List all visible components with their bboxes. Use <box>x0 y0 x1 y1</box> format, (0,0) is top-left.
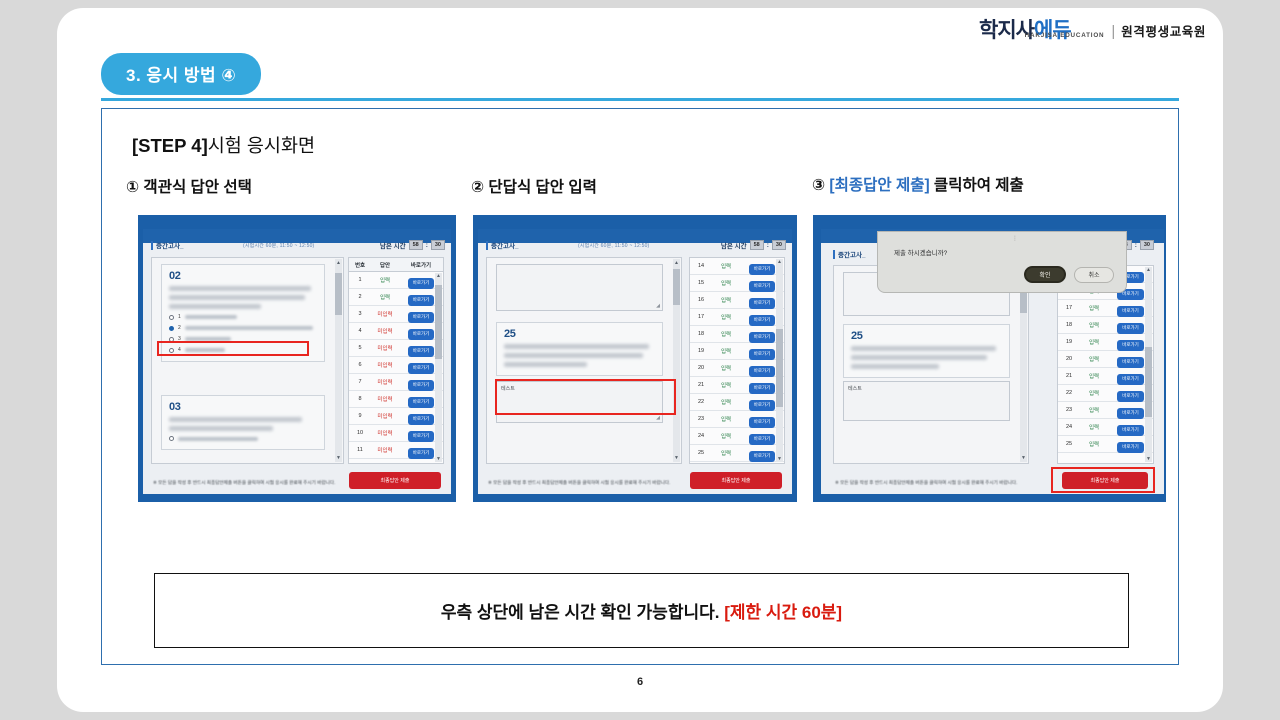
goto-question-button[interactable]: 바로가기 <box>408 329 435 340</box>
cell-question-number: 21 <box>1058 373 1080 379</box>
cell-answer-status: 입력 <box>712 415 740 423</box>
table-row: 14입력바로가기 <box>690 258 784 275</box>
table-row: 23입력바로가기 <box>690 411 784 428</box>
column-header-goto: 바로가기 <box>399 261 443 269</box>
table-row: 10미입력바로가기 <box>349 425 443 442</box>
scroll-down-icon-1[interactable]: ▼ <box>336 455 341 461</box>
cell-answer-status: 미입력 <box>371 344 399 352</box>
resize-grip-icon-1[interactable]: ◢ <box>656 303 660 309</box>
table-row: 9미입력바로가기 <box>349 408 443 425</box>
cell-answer-status: 입력 <box>712 364 740 372</box>
question-scrollbar-1[interactable]: ▲ ▼ <box>335 259 342 462</box>
table-row: 5미입력바로가기 <box>349 340 443 357</box>
goto-question-button[interactable]: 바로가기 <box>408 346 435 357</box>
cell-answer-status: 입력 <box>1080 440 1108 448</box>
question-card-25-confirm: 25 <box>843 324 1010 378</box>
cell-question-number: 21 <box>690 382 712 388</box>
cell-question-number: 2 <box>349 294 371 300</box>
logo-mark: 학지사 에듀 HAKJISA EDUCATION <box>979 20 1104 41</box>
table-row: 16입력바로가기 <box>690 292 784 309</box>
table-row: 24입력바로가기 <box>690 428 784 445</box>
goto-question-button[interactable]: 바로가기 <box>1117 374 1144 385</box>
choice-option-1[interactable]: 1 <box>169 314 317 320</box>
cell-question-number: 7 <box>349 379 371 385</box>
timer-separator-1: : <box>426 242 428 249</box>
question-pane-1: ▲ ▼ 02 1 <box>151 257 344 464</box>
exam-title-2: 중간고사_ <box>486 240 519 250</box>
screenshot-submit-confirm: 중간고사_ 남은 시간 58 : 30 ▲ ▼ 25 <box>813 215 1166 502</box>
question-number-03: 03 <box>169 401 317 413</box>
table-scroll-up-icon-2[interactable]: ▲ <box>777 259 782 265</box>
table-row: 17입력바로가기 <box>690 309 784 326</box>
table-row: 1입력바로가기 <box>349 272 443 289</box>
exam-screen-3: 중간고사_ 남은 시간 58 : 30 ▲ ▼ 25 <box>821 229 1164 494</box>
goto-question-button[interactable]: 바로가기 <box>408 312 435 323</box>
goto-question-button[interactable]: 바로가기 <box>408 363 435 374</box>
cell-question-number: 20 <box>1058 356 1080 362</box>
table-row: 15입력바로가기 <box>690 275 784 292</box>
table-row: 24입력바로가기 <box>1058 419 1153 436</box>
goto-question-button[interactable]: 바로가기 <box>408 278 435 289</box>
cell-question-number: 23 <box>690 416 712 422</box>
dialog-button-group: 확인 취소 <box>1024 266 1114 283</box>
goto-question-button[interactable]: 바로가기 <box>749 349 776 360</box>
step-heading: [STEP 4]시험 응시화면 <box>132 132 315 158</box>
title-underline-rule <box>101 98 1179 101</box>
column-header-answer: 답안 <box>371 261 399 269</box>
goto-question-button[interactable]: 바로가기 <box>408 295 435 306</box>
column-label-submit: ③ [최종답안 제출] 클릭하여 제출 <box>812 173 1024 195</box>
exam-title-3: 중간고사_ <box>833 249 866 259</box>
table-row: 7미입력바로가기 <box>349 374 443 391</box>
cell-answer-status: 미입력 <box>371 378 399 386</box>
table-scroll-down-icon-2[interactable]: ▼ <box>777 456 782 462</box>
table-row: 3미입력바로가기 <box>349 306 443 323</box>
answer-textarea-value-3: 테스트 <box>844 382 1009 395</box>
table-scroll-thumb-2[interactable] <box>776 329 783 407</box>
answer-status-table-3: 15입력바로가기16입력바로가기17입력바로가기18입력바로가기19입력바로가기… <box>1057 265 1154 464</box>
choice-number-2: 2 <box>178 325 181 331</box>
cell-answer-status: 입력 <box>371 293 399 301</box>
column-label-multiple-choice: ① 객관식 답안 선택 <box>126 175 252 197</box>
scroll-down-icon-2[interactable]: ▼ <box>674 455 679 461</box>
page-title: 3. 응시 방법 ④ <box>101 53 261 95</box>
column-header-number: 번호 <box>349 261 371 269</box>
slide-canvas: 학지사 에듀 HAKJISA EDUCATION | 원격평생교육원 3. 응시… <box>57 8 1223 712</box>
logo-divider: | <box>1111 23 1115 40</box>
remaining-time-2: 남은 시간 58 : 30 <box>721 240 786 250</box>
table-row: 19입력바로가기 <box>1058 334 1153 351</box>
question-body-line <box>504 353 643 358</box>
submit-instruction-note-3: ※ 모든 답을 작성 후 반드시 최종답안제출 버튼을 클릭하여 시험 응시를 … <box>835 480 1017 486</box>
note-main-text: 우측 상단에 남은 시간 확인 가능합니다. <box>441 603 724 622</box>
choice-option-1b[interactable] <box>169 436 317 441</box>
question-body-line <box>169 304 261 309</box>
timer-label-1: 남은 시간 <box>380 240 406 250</box>
table-row: 25입력바로가기 <box>1058 436 1153 453</box>
table-row: 17입력바로가기 <box>1058 300 1153 317</box>
table-body-2: 14입력바로가기15입력바로가기16입력바로가기17입력바로가기18입력바로가기… <box>690 258 784 462</box>
timer-minutes-1: 58 <box>409 240 423 250</box>
cell-question-number: 8 <box>349 396 371 402</box>
exam-title-1: 중간고사_ <box>151 240 184 250</box>
goto-question-button[interactable]: 바로가기 <box>1117 357 1144 368</box>
cell-answer-status: 입력 <box>1080 406 1108 414</box>
cell-answer-status: 입력 <box>712 347 740 355</box>
timer-minutes-2: 58 <box>750 240 764 250</box>
goto-question-button[interactable]: 바로가기 <box>749 383 776 394</box>
submit-instruction-note-2: ※ 모든 답을 작성 후 반드시 최종답안제출 버튼을 클릭하여 시험 응시를 … <box>488 480 670 486</box>
exam-subtitle-2: (시험시간 60분, 11:50 ~ 12:50) <box>578 242 649 249</box>
goto-question-button[interactable]: 바로가기 <box>1117 340 1144 351</box>
table-row: 4미입력바로가기 <box>349 323 443 340</box>
question-number-25: 25 <box>504 328 655 340</box>
table-scroll-down-icon-3[interactable]: ▼ <box>1146 456 1151 462</box>
timer-seconds-2: 30 <box>772 240 786 250</box>
cell-answer-status: 미입력 <box>371 446 399 454</box>
goto-question-button[interactable]: 바로가기 <box>1117 408 1144 419</box>
goto-question-button[interactable]: 바로가기 <box>1117 391 1144 402</box>
table-row: 22입력바로가기 <box>1058 385 1153 402</box>
goto-question-button[interactable]: 바로가기 <box>1117 323 1144 334</box>
cell-answer-status: 입력 <box>712 262 740 270</box>
goto-question-button[interactable]: 바로가기 <box>749 281 776 292</box>
timer-label-2: 남은 시간 <box>721 240 747 250</box>
table-row: 19입력바로가기 <box>690 343 784 360</box>
question-body-line <box>169 426 273 431</box>
choice-text-1 <box>185 315 237 319</box>
question-body-line <box>169 295 305 300</box>
highlight-box-answer-input <box>495 379 676 415</box>
final-submit-button-2[interactable]: 최종답안 제출 <box>690 472 782 489</box>
cell-question-number: 19 <box>690 348 712 354</box>
table-row: 11미입력바로가기 <box>349 442 443 459</box>
resize-grip-icon-2[interactable]: ◢ <box>656 415 660 421</box>
radio-icon-2-selected[interactable] <box>169 326 174 331</box>
cell-question-number: 15 <box>690 280 712 286</box>
table-scrollbar-1[interactable]: ▲ ▼ <box>435 273 442 462</box>
cell-question-number: 25 <box>1058 441 1080 447</box>
cell-question-number: 16 <box>690 297 712 303</box>
cell-question-number: 4 <box>349 328 371 334</box>
column-marker-3: ③ <box>812 177 825 194</box>
cell-question-number: 18 <box>1058 322 1080 328</box>
submit-confirm-dialog: ⋮ 제출 하시겠습니까? 확인 취소 <box>877 231 1127 293</box>
goto-question-button[interactable]: 바로가기 <box>408 380 435 391</box>
column-text-3: 클릭하여 제출 <box>930 177 1024 194</box>
choice-number-1: 1 <box>178 314 181 320</box>
cell-answer-status: 입력 <box>712 398 740 406</box>
cell-question-number: 11 <box>349 447 371 453</box>
column-text-3-highlight: [최종답안 제출] <box>825 177 930 194</box>
table-body-1: 1입력바로가기2입력바로가기3미입력바로가기4미입력바로가기5미입력바로가기6미… <box>349 272 443 459</box>
goto-question-button[interactable]: 바로가기 <box>408 397 435 408</box>
cell-question-number: 19 <box>1058 339 1080 345</box>
column-label-short-answer: ② 단답식 답안 입력 <box>471 175 597 197</box>
table-scroll-thumb-1[interactable] <box>435 285 442 359</box>
cell-question-number: 10 <box>349 430 371 436</box>
cell-answer-status: 입력 <box>1080 304 1108 312</box>
cell-answer-status: 미입력 <box>371 327 399 335</box>
highlight-box-submit-button <box>1051 467 1155 493</box>
cell-question-number: 24 <box>1058 424 1080 430</box>
cell-question-number: 18 <box>690 331 712 337</box>
cell-question-number: 9 <box>349 413 371 419</box>
cell-question-number: 1 <box>349 277 371 283</box>
column-text-2: 단답식 답안 입력 <box>484 179 597 196</box>
timer-separator-3: : <box>1135 242 1137 249</box>
cell-question-number: 17 <box>1058 305 1080 311</box>
cell-answer-status: 입력 <box>712 313 740 321</box>
cell-answer-status: 입력 <box>712 330 740 338</box>
table-row: 20입력바로가기 <box>690 360 784 377</box>
column-text-1: 객관식 답안 선택 <box>139 179 252 196</box>
cell-question-number: 20 <box>690 365 712 371</box>
question-body-line <box>169 286 311 291</box>
cell-question-number: 3 <box>349 311 371 317</box>
table-row: 18입력바로가기 <box>690 326 784 343</box>
question-body-line <box>504 362 587 367</box>
cell-answer-status: 미입력 <box>371 395 399 403</box>
cell-question-number: 25 <box>690 450 712 456</box>
brand-logo: 학지사 에듀 HAKJISA EDUCATION | 원격평생교육원 <box>979 20 1206 41</box>
choice-option-2[interactable]: 2 <box>169 325 317 331</box>
scroll-up-icon-2[interactable]: ▲ <box>674 260 679 266</box>
exam-screen-2: 중간고사_ (시험시간 60분, 11:50 ~ 12:50) 남은 시간 58… <box>478 229 792 494</box>
table-scroll-down-icon-1[interactable]: ▼ <box>436 456 441 462</box>
goto-question-button[interactable]: 바로가기 <box>408 414 435 425</box>
cell-answer-status: 입력 <box>712 449 740 457</box>
cell-question-number: 14 <box>690 263 712 269</box>
table-row: 22입력바로가기 <box>690 394 784 411</box>
question-body-line <box>169 417 302 422</box>
scroll-thumb-1[interactable] <box>335 273 342 315</box>
table-header-row-1: 번호 답안 바로가기 <box>349 258 443 272</box>
goto-question-button[interactable]: 바로가기 <box>749 400 776 411</box>
table-row: 8미입력바로가기 <box>349 391 443 408</box>
cell-answer-status: 입력 <box>712 296 740 304</box>
table-scroll-up-icon-1[interactable]: ▲ <box>436 273 441 279</box>
remaining-time-1: 남은 시간 58 : 30 <box>380 240 445 250</box>
table-row: 18입력바로가기 <box>1058 317 1153 334</box>
scroll-up-icon-1[interactable]: ▲ <box>336 260 341 266</box>
cell-answer-status: 입력 <box>1080 355 1108 363</box>
cell-question-number: 22 <box>690 399 712 405</box>
screenshot-multiple-choice: 중간고사_ (시험시간 60분, 11:50 ~ 12:50) 남은 시간 58… <box>138 215 456 502</box>
goto-question-button[interactable]: 바로가기 <box>749 451 776 462</box>
question-pane-2: ▲ ▼ ◢ 25 테스트 ◢ <box>486 257 682 464</box>
logo-english-subtitle: HAKJISA EDUCATION <box>1025 32 1105 39</box>
goto-question-button[interactable]: 바로가기 <box>1117 442 1144 453</box>
highlight-box-selected-answer <box>157 341 309 356</box>
dialog-cancel-button[interactable]: 취소 <box>1074 267 1114 283</box>
goto-question-button[interactable]: 바로가기 <box>749 315 776 326</box>
table-row: 21입력바로가기 <box>690 377 784 394</box>
table-scrollbar-3[interactable]: ▲ ▼ <box>1145 267 1152 462</box>
table-row: 6미입력바로가기 <box>349 357 443 374</box>
answer-status-table-1: 번호 답안 바로가기 1입력바로가기2입력바로가기3미입력바로가기4미입력바로가… <box>348 257 444 464</box>
logo-institute-name: 원격평생교육원 <box>1121 21 1206 40</box>
cell-answer-status: 입력 <box>1080 321 1108 329</box>
cell-answer-status: 미입력 <box>371 361 399 369</box>
dialog-message: 제출 하시겠습니까? <box>894 247 947 257</box>
goto-question-button[interactable]: 바로가기 <box>408 448 435 459</box>
question-number-25-confirm: 25 <box>851 330 1002 342</box>
question-pane-3: ▲ ▼ 25 테스트 <box>833 265 1029 464</box>
goto-question-button[interactable]: 바로가기 <box>749 434 776 445</box>
content-panel: [STEP 4]시험 응시화면 ① 객관식 답안 선택 ② 단답식 답안 입력 … <box>101 108 1179 665</box>
choice-text-1b <box>178 437 258 441</box>
cell-answer-status: 입력 <box>1080 338 1108 346</box>
cell-question-number: 23 <box>1058 407 1080 413</box>
cell-question-number: 6 <box>349 362 371 368</box>
table-row: 2입력바로가기 <box>349 289 443 306</box>
page-number: 6 <box>57 676 1223 688</box>
scroll-down-icon-3[interactable]: ▼ <box>1021 455 1026 461</box>
cell-answer-status: 입력 <box>712 432 740 440</box>
exam-screen-1: 중간고사_ (시험시간 60분, 11:50 ~ 12:50) 남은 시간 58… <box>143 229 451 494</box>
timer-separator-2: : <box>767 242 769 249</box>
previous-answer-textarea[interactable]: ◢ <box>496 264 663 311</box>
note-highlight-text: [제한 시간 60분] <box>724 603 842 622</box>
cell-answer-status: 미입력 <box>371 310 399 318</box>
step-bracket-label: [STEP 4] <box>132 135 208 156</box>
dialog-confirm-button[interactable]: 확인 <box>1024 266 1066 283</box>
cell-answer-status: 입력 <box>371 276 399 284</box>
timer-seconds-1: 30 <box>431 240 445 250</box>
goto-question-button[interactable]: 바로가기 <box>408 431 435 442</box>
goto-question-button[interactable]: 바로가기 <box>1117 306 1144 317</box>
table-row: 25입력바로가기 <box>690 445 784 462</box>
cell-question-number: 24 <box>690 433 712 439</box>
question-body-line <box>851 364 939 369</box>
cell-question-number: 22 <box>1058 390 1080 396</box>
goto-question-button[interactable]: 바로가기 <box>749 332 776 343</box>
final-submit-button-1[interactable]: 최종답안 제출 <box>349 472 441 489</box>
goto-question-button[interactable]: 바로가기 <box>749 417 776 428</box>
question-card-03: 03 <box>161 395 325 450</box>
column-marker-2: ② <box>471 179 484 196</box>
choice-text-2 <box>185 326 313 330</box>
answer-status-table-2: 14입력바로가기15입력바로가기16입력바로가기17입력바로가기18입력바로가기… <box>689 257 785 464</box>
table-scroll-up-icon-3[interactable]: ▲ <box>1146 267 1151 273</box>
cell-answer-status: 입력 <box>1080 389 1108 397</box>
dialog-drag-handle-icon[interactable]: ⋮ <box>1012 235 1018 242</box>
cell-answer-status: 입력 <box>1080 372 1108 380</box>
bottom-note-box: 우측 상단에 남은 시간 확인 가능합니다. [제한 시간 60분] <box>154 573 1129 648</box>
submit-instruction-note-1: ※ 모든 답을 작성 후 반드시 최종답안제출 버튼을 클릭하여 시험 응시를 … <box>153 480 335 486</box>
table-row: 21입력바로가기 <box>1058 368 1153 385</box>
question-body-line <box>504 344 649 349</box>
answer-textarea-3[interactable]: 테스트 <box>843 381 1010 421</box>
table-scrollbar-2[interactable]: ▲ ▼ <box>776 259 783 462</box>
cell-question-number: 17 <box>690 314 712 320</box>
goto-question-button[interactable]: 바로가기 <box>749 264 776 275</box>
table-scroll-thumb-3[interactable] <box>1145 347 1152 417</box>
table-row: 23입력바로가기 <box>1058 402 1153 419</box>
step-title-label: 시험 응시화면 <box>208 135 315 156</box>
timer-seconds-3: 30 <box>1140 240 1154 250</box>
goto-question-button[interactable]: 바로가기 <box>749 298 776 309</box>
cell-answer-status: 미입력 <box>371 412 399 420</box>
question-body-line <box>851 346 996 351</box>
question-scrollbar-2[interactable]: ▲ ▼ <box>673 259 680 462</box>
cell-answer-status: 입력 <box>712 279 740 287</box>
question-number-02: 02 <box>169 270 317 282</box>
question-scrollbar-3[interactable]: ▲ ▼ <box>1020 267 1027 462</box>
table-body-3: 15입력바로가기16입력바로가기17입력바로가기18입력바로가기19입력바로가기… <box>1058 266 1153 453</box>
radio-icon-1[interactable] <box>169 315 174 320</box>
table-row: 20입력바로가기 <box>1058 351 1153 368</box>
goto-question-button[interactable]: 바로가기 <box>749 366 776 377</box>
exam-subtitle-1: (시험시간 60분, 11:50 ~ 12:50) <box>243 242 314 249</box>
cell-question-number: 5 <box>349 345 371 351</box>
scroll-thumb-2[interactable] <box>673 269 680 305</box>
question-card-25: 25 <box>496 322 663 376</box>
cell-answer-status: 미입력 <box>371 429 399 437</box>
cell-answer-status: 입력 <box>1080 423 1108 431</box>
column-marker-1: ① <box>126 179 139 196</box>
radio-icon-1b[interactable] <box>169 436 174 441</box>
cell-answer-status: 입력 <box>712 381 740 389</box>
goto-question-button[interactable]: 바로가기 <box>1117 425 1144 436</box>
screenshot-short-answer: 중간고사_ (시험시간 60분, 11:50 ~ 12:50) 남은 시간 58… <box>473 215 797 502</box>
question-body-line <box>851 355 987 360</box>
bottom-note-text: 우측 상단에 남은 시간 확인 가능합니다. [제한 시간 60분] <box>441 598 842 623</box>
